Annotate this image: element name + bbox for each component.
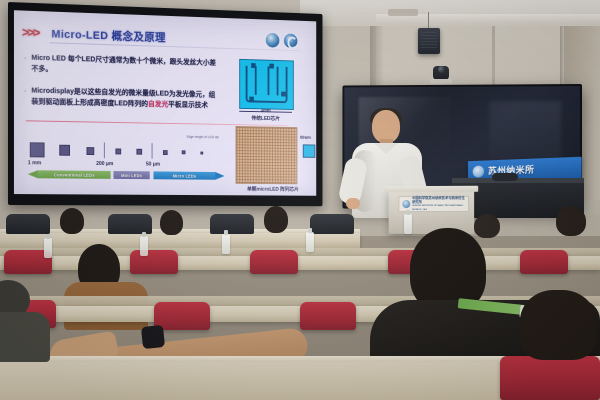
audience-head: [60, 208, 84, 234]
auditorium-seat: [300, 302, 356, 330]
scale-square: [136, 149, 141, 154]
microled-array-image: [236, 126, 298, 184]
ceiling: [300, 0, 600, 26]
bullet-marker: ·: [24, 52, 27, 73]
speaker-grill: [421, 32, 437, 50]
water-bottle: [306, 232, 314, 252]
arrow-head-left: [28, 170, 38, 178]
podium: 中国科学院苏州纳米技术与纳米仿生研究所 SUZHOU INSTITUTE OF …: [389, 190, 475, 234]
arrow-label: Mini LEDs: [113, 173, 149, 178]
bullet-highlight: 自发光: [148, 100, 168, 108]
chip-pad: [281, 92, 286, 97]
wall-speaker: [418, 28, 440, 54]
scale-square: [182, 151, 186, 155]
podium-text-en: SUZHOU INSTITUTE OF NANO-TECH AND NANO-B…: [412, 204, 468, 212]
seat-back: [6, 214, 50, 234]
audience-head-foreground: [520, 290, 596, 360]
podium-institution-text: 中国科学院苏州纳米技术与纳米仿生研究所 SUZHOU INSTITUTE OF …: [412, 196, 468, 212]
cabinet-object: [492, 173, 518, 181]
auditorium-seat: [250, 250, 298, 274]
institute-logo-1-icon: [266, 33, 280, 48]
lecture-hall-photo: 苏州纳米所 >>> Micro-LED 概念及原理 · Micro LED 每个…: [0, 0, 600, 400]
conventional-led-chip-image: [239, 59, 294, 110]
water-bottle: [140, 236, 148, 256]
figure-caption: 传统LED芯片: [239, 115, 292, 123]
presenter-left-hand: [346, 198, 360, 209]
institute-seal-icon: [473, 165, 484, 177]
scale-note: Edge length of LED die: [187, 135, 219, 139]
ptz-camera: [430, 64, 452, 84]
seat-back: [310, 214, 354, 234]
auditorium-seat: [520, 250, 568, 274]
arrow-head-right: [215, 172, 224, 180]
camera-lens-icon: [438, 66, 445, 73]
scale-square: [59, 145, 70, 156]
ceiling-vent: [388, 9, 418, 16]
figure-caption: 单颗microLED 阵列芯片: [232, 186, 314, 193]
water-bottle: [44, 238, 52, 258]
scale-arrow-mini: Mini LEDs: [113, 171, 149, 179]
chip-pad: [249, 97, 254, 102]
scale-square: [87, 147, 95, 155]
scale-square: [115, 148, 121, 154]
audience-head: [556, 206, 586, 236]
scale-tick: [152, 143, 153, 159]
chip-trace: [255, 66, 257, 95]
scale-label: 50 μm: [146, 162, 160, 168]
chip-trace: [268, 66, 270, 95]
audience-head: [264, 206, 288, 233]
bullet-item: · Microdisplay是以这些自发光的微米量级LED为发光像元，组装到驱动…: [24, 85, 220, 110]
cabinet-top: [452, 178, 584, 183]
auditorium-seat: [500, 356, 600, 400]
scale-tick: [104, 142, 105, 158]
scale-label: 1 mm: [28, 160, 41, 166]
scale-square: [200, 151, 203, 154]
arrow-label: Conventional LEDs: [38, 172, 111, 178]
audience-torso: [0, 312, 50, 362]
institute-logo-2-icon: [284, 34, 298, 49]
speaker-cable: [428, 12, 429, 29]
scalebar-label: 1mm: [239, 107, 292, 113]
slide-chevron-icon: >>>: [22, 24, 39, 39]
podium-text-cn: 中国科学院苏州纳米技术与纳米仿生研究所: [412, 196, 468, 204]
camera-base: [430, 79, 452, 84]
chip-scalebar: 1mm: [239, 108, 292, 115]
podium-seal-icon: [402, 200, 410, 208]
wristwatch: [141, 325, 165, 349]
chip-trace: [277, 67, 279, 96]
bullet-text: Microdisplay是以这些自发光的微米量级LED为发光像元，组装到驱动面板…: [31, 86, 219, 111]
bullet-item: · Micro LED 每个LED尺寸通常为数十个微米，跟头发丝大小差不多。: [24, 52, 220, 78]
seat-back: [210, 214, 254, 234]
auditorium-seat: [154, 302, 210, 330]
bullet-text-after: 平板显示技术: [168, 100, 208, 109]
title-underline: [49, 42, 301, 51]
water-bottle: [404, 214, 412, 234]
scale-arrow-conventional: Conventional LEDs: [38, 170, 111, 179]
single-microled-chip-image: [303, 144, 316, 157]
scale-square: [163, 150, 167, 155]
audience-head: [474, 214, 500, 238]
single-chip-scalebar-label: 50um: [300, 135, 311, 140]
led-size-scale-figure: Edge length of LED die 1 mm 200 μm 50 μm…: [26, 130, 225, 187]
audience-head: [160, 210, 183, 235]
camera-head: [433, 66, 449, 80]
slide-bullet-list: · Micro LED 每个LED尺寸通常为数十个微米，跟头发丝大小差不多。 ·…: [24, 52, 220, 121]
projection-screen: >>> Micro-LED 概念及原理 · Micro LED 每个LED尺寸通…: [8, 2, 322, 206]
scale-label: 200 μm: [96, 161, 113, 167]
chip-pad: [251, 63, 256, 68]
podium-top-surface: [385, 186, 478, 192]
arrow-label: Micro LEDs: [153, 173, 215, 178]
auditorium-seat: [130, 250, 178, 274]
scale-arrow-micro: Micro LEDs: [153, 171, 215, 179]
scale-square: [30, 142, 45, 157]
seat-back: [108, 214, 152, 234]
bullet-marker: ·: [24, 85, 27, 106]
bullet-text: Micro LED 每个LED尺寸通常为数十个微米，跟头发丝大小差不多。: [31, 53, 219, 79]
chip-pad: [269, 64, 274, 69]
slide-content: >>> Micro-LED 概念及原理 · Micro LED 每个LED尺寸通…: [14, 10, 316, 196]
water-bottle: [222, 234, 230, 254]
